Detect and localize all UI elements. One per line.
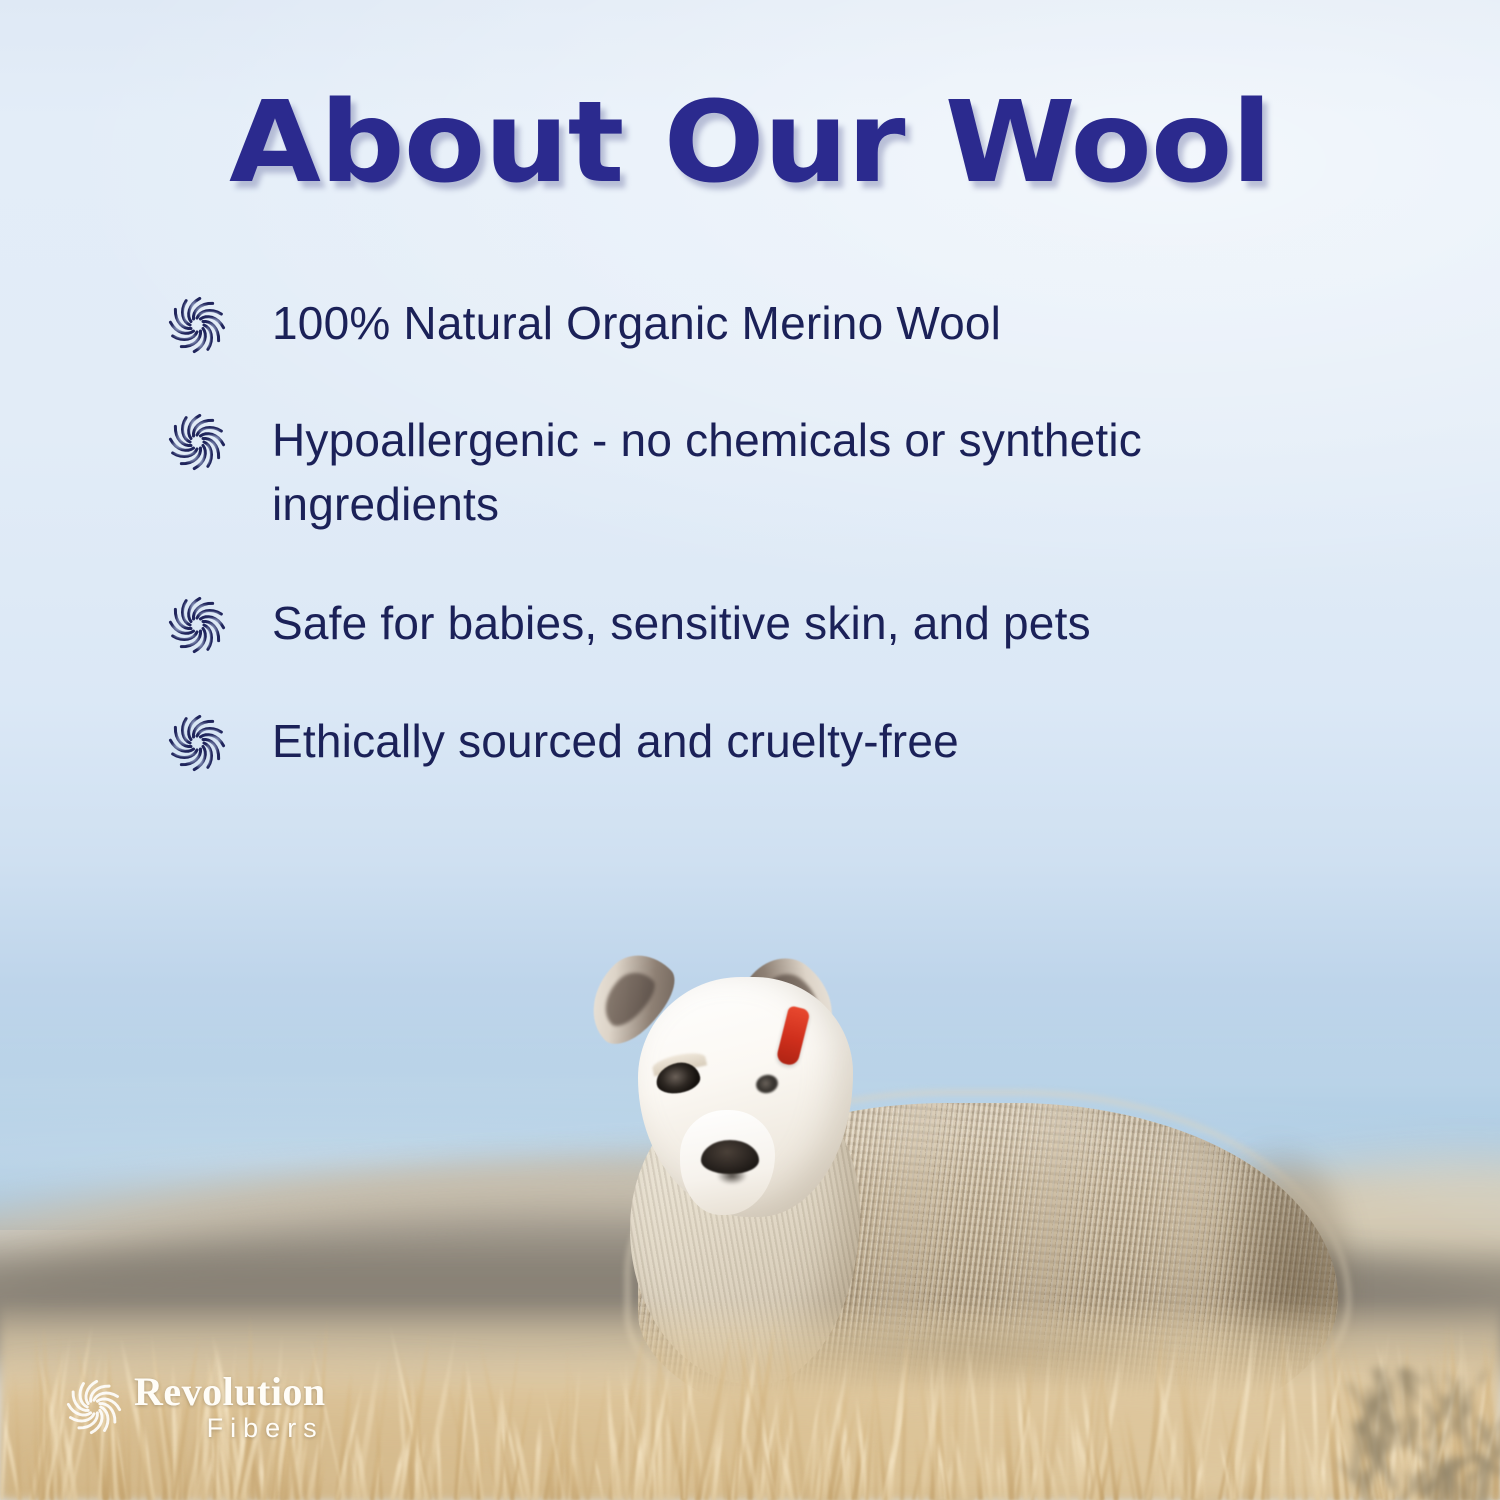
feature-bullet-text: 100% Natural Organic Merino Wool (272, 292, 1001, 355)
fiber-swirl-icon (168, 413, 226, 471)
feature-bullet-text: Hypoallergenic - no chemicals or synthet… (272, 409, 1332, 536)
feature-bullet-item: 100% Natural Organic Merino Wool (168, 292, 1348, 355)
feature-bullet-item: Ethically sourced and cruelty-free (168, 710, 1348, 773)
about-our-wool-graphic: About Our Wool 100% Natural Organic Meri… (0, 0, 1500, 1500)
page-title: About Our Wool (0, 86, 1500, 200)
fiber-swirl-icon (168, 714, 226, 772)
sheep-ear-inner-left (593, 963, 663, 1032)
feature-bullet-item: Safe for babies, sensitive skin, and pet… (168, 592, 1348, 655)
feature-bullet-text: Ethically sourced and cruelty-free (272, 710, 959, 773)
brand-name-line2: Fibers (134, 1415, 324, 1442)
fiber-swirl-icon (168, 596, 226, 654)
brand-logo: Revolution Fibers (66, 1372, 326, 1442)
feature-bullet-text: Safe for babies, sensitive skin, and pet… (272, 592, 1091, 655)
sheep-nose (701, 1140, 759, 1174)
brand-name-line1: Revolution (134, 1372, 326, 1412)
fiber-swirl-icon (66, 1379, 122, 1435)
feature-bullet-list: 100% Natural Organic Merino WoolHypoalle… (168, 292, 1348, 827)
blurred-shrub (1330, 1300, 1500, 1500)
sheep-mouth (710, 1171, 754, 1193)
brand-logo-words: Revolution Fibers (134, 1372, 326, 1442)
feature-bullet-item: Hypoallergenic - no chemicals or synthet… (168, 409, 1348, 536)
fiber-swirl-icon (168, 296, 226, 354)
